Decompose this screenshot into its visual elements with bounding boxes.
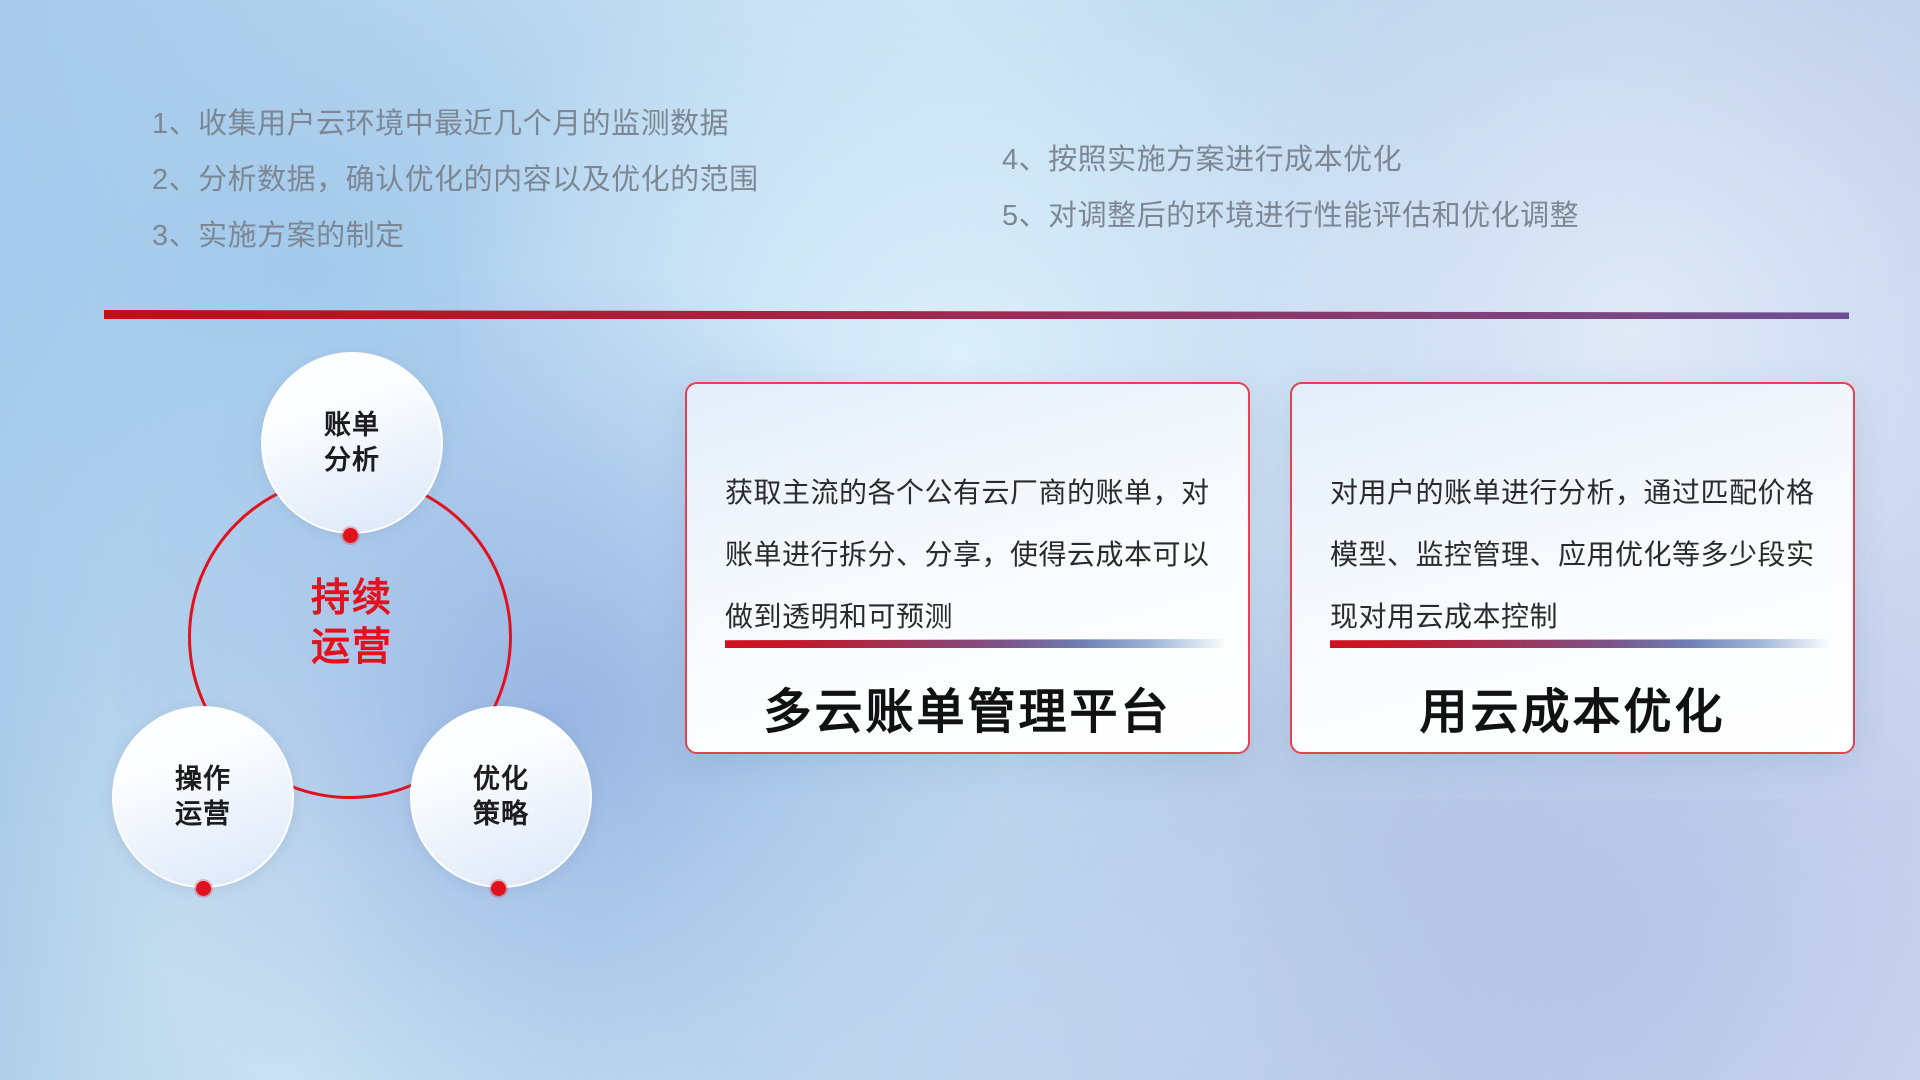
diagram-node-bill-analysis[interactable]: 账单 分析 [261, 352, 443, 534]
node-right-line2: 策略 [473, 797, 529, 832]
diagram-center-label: 持续 运营 [267, 574, 437, 672]
step-item-3: 3、实施方案的制定 [152, 208, 759, 264]
steps-column-left: 1、收集用户云环境中最近几个月的监测数据 2、分析数据，确认优化的内容以及优化的… [152, 96, 759, 264]
diagram-node-operations-label: 操作 运营 [175, 762, 231, 832]
continuous-operation-diagram: 持续 运营 账单 分析 操作 运营 优化 策略 [95, 352, 615, 922]
info-card-1-title: 多云账单管理平台 [687, 672, 1248, 742]
info-card-multicloud-billing[interactable]: 获取主流的各个公有云厂商的账单，对账单进行拆分、分享，使得云成本可以做到透明和可… [685, 382, 1250, 754]
diagram-node-bill-analysis-label: 账单 分析 [324, 408, 380, 478]
node-left-line1: 操作 [175, 762, 231, 797]
node-top-line2: 分析 [324, 443, 380, 478]
step-item-1: 1、收集用户云环境中最近几个月的监测数据 [152, 96, 759, 152]
info-card-1-rule [725, 639, 1223, 648]
step-item-5: 5、对调整后的环境进行性能评估和优化调整 [1002, 188, 1579, 244]
info-card-cloud-cost-optimization[interactable]: 对用户的账单进行分析，通过匹配价格模型、监控管理、应用优化等多少段实现对用云成本… [1290, 382, 1855, 754]
info-card-2-title: 用云成本优化 [1292, 672, 1853, 742]
info-card-2-body: 对用户的账单进行分析，通过匹配价格模型、监控管理、应用优化等多少段实现对用云成本… [1330, 462, 1823, 648]
node-top-line1: 账单 [324, 408, 380, 443]
diagram-connector-dot-left [196, 881, 211, 896]
diagram-node-optimization-strategy-label: 优化 策略 [473, 762, 529, 832]
section-divider-rule [104, 310, 1849, 319]
diagram-connector-dot-right [491, 881, 506, 896]
diagram-center-label-line1: 持续 [267, 574, 437, 623]
node-left-line2: 运营 [175, 797, 231, 832]
diagram-connector-dot-top [343, 528, 358, 543]
diagram-node-optimization-strategy[interactable]: 优化 策略 [410, 706, 592, 888]
steps-column-right: 4、按照实施方案进行成本优化 5、对调整后的环境进行性能评估和优化调整 [1002, 132, 1579, 244]
step-item-2: 2、分析数据，确认优化的内容以及优化的范围 [152, 152, 759, 208]
step-item-4: 4、按照实施方案进行成本优化 [1002, 132, 1579, 188]
diagram-center-label-line2: 运营 [267, 623, 437, 672]
node-right-line1: 优化 [473, 762, 529, 797]
diagram-node-operations[interactable]: 操作 运营 [112, 706, 294, 888]
info-card-1-body: 获取主流的各个公有云厂商的账单，对账单进行拆分、分享，使得云成本可以做到透明和可… [725, 462, 1218, 648]
info-card-2-rule [1330, 639, 1828, 648]
